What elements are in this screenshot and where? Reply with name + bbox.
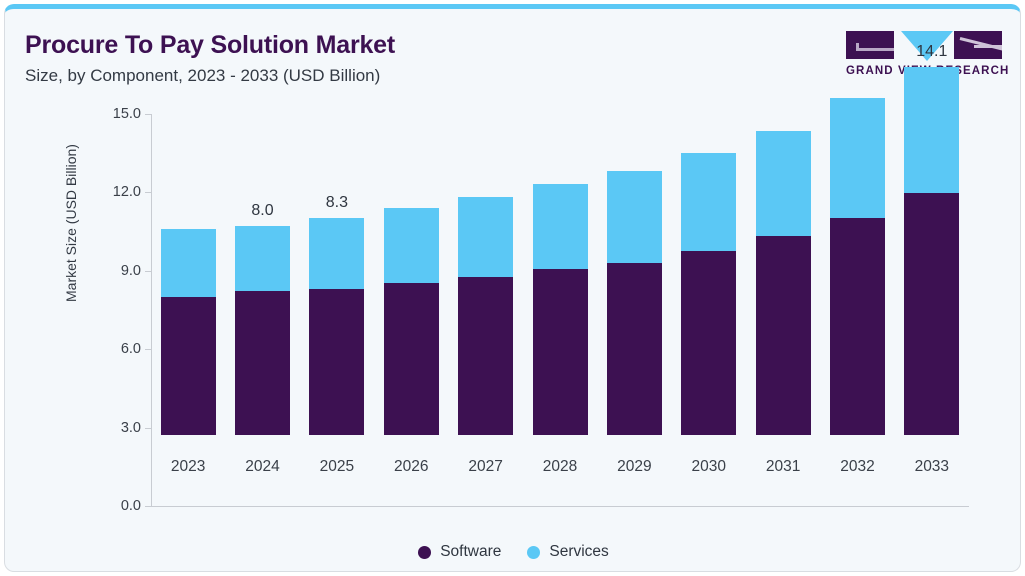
bar-segment-services[interactable] (235, 226, 290, 291)
bar-segment-services[interactable] (309, 218, 364, 289)
x-axis-tick-label: 2026 (394, 458, 428, 476)
x-axis-tick-label: 2023 (171, 458, 205, 476)
y-axis-tick-label: 3.0 (93, 420, 141, 436)
chart-card: Procure To Pay Solution Market Size, by … (4, 4, 1021, 572)
bar-segment-services[interactable] (830, 98, 885, 218)
y-axis-tick-label: 12.0 (93, 184, 141, 200)
bar-segment-software[interactable] (384, 283, 439, 435)
x-axis-tick: 2023 (161, 446, 216, 447)
bar-value-label: 8.3 (326, 194, 348, 212)
y-axis-tick-label: 9.0 (93, 263, 141, 279)
bar-segment-software[interactable] (681, 251, 736, 435)
legend-item-label: Software (440, 543, 501, 561)
bar-value-label: 14.1 (916, 43, 947, 61)
bar-group[interactable] (607, 171, 662, 435)
x-axis-tick: 2033 (904, 446, 959, 447)
x-axis-tick: 2028 (533, 446, 588, 447)
bar-segment-services[interactable] (607, 171, 662, 262)
bar-segment-software[interactable] (235, 291, 290, 435)
bar-segment-software[interactable] (756, 236, 811, 435)
x-axis-tick-label: 2028 (543, 458, 577, 476)
bar-value-label: 8.0 (251, 202, 273, 220)
legend-item[interactable]: Services (527, 543, 608, 561)
bar-group[interactable] (161, 229, 216, 435)
y-axis-tick-label: 15.0 (93, 106, 141, 122)
bar-segment-software[interactable] (533, 269, 588, 435)
x-axis-tick-label: 2032 (840, 458, 874, 476)
legend-item-label: Services (549, 543, 608, 561)
bar-segment-software[interactable] (830, 218, 885, 435)
bar-segment-services[interactable] (681, 153, 736, 251)
bar-group[interactable] (458, 197, 513, 435)
bar-segment-services[interactable] (458, 197, 513, 277)
x-axis-tick-label: 2029 (617, 458, 651, 476)
logo-g-bar (856, 48, 894, 51)
bar-segment-services[interactable] (533, 184, 588, 269)
bar-group[interactable] (756, 131, 811, 435)
x-axis-tick: 2032 (830, 446, 885, 447)
bar-segment-software[interactable] (607, 263, 662, 435)
bar-segment-services[interactable] (904, 67, 959, 194)
x-axis-tick: 2031 (756, 446, 811, 447)
bar-segment-software[interactable] (904, 193, 959, 435)
bar-segment-services[interactable] (161, 229, 216, 297)
bar-group[interactable] (384, 208, 439, 435)
bar-group[interactable]: 8.0 (235, 226, 290, 435)
y-axis-ticks: 0.03.06.09.012.015.0 (5, 97, 151, 572)
x-axis-tick: 2026 (384, 446, 439, 447)
x-axis-tick-label: 2030 (691, 458, 725, 476)
logo-g-mark-icon (846, 31, 894, 59)
x-axis-tick: 2025 (309, 446, 364, 447)
y-axis-tick-label: 6.0 (93, 341, 141, 357)
bar-group[interactable] (681, 153, 736, 435)
x-axis-tick-label: 2024 (245, 458, 279, 476)
bars-container: 20238.020248.320252026202720282029203020… (151, 107, 967, 506)
x-axis-tick-label: 2033 (915, 458, 949, 476)
x-axis-tick: 2030 (681, 446, 736, 447)
bar-segment-software[interactable] (458, 277, 513, 435)
bar-segment-software[interactable] (309, 289, 364, 435)
bar-segment-services[interactable] (384, 208, 439, 284)
logo-r-mark-icon (954, 31, 1002, 59)
page-title: Procure To Pay Solution Market (25, 31, 395, 60)
x-axis-tick-label: 2031 (766, 458, 800, 476)
bar-group[interactable] (830, 98, 885, 435)
logo-r-slash-2 (974, 45, 1002, 48)
bar-group[interactable]: 14.1 (904, 67, 959, 435)
chart-header: Procure To Pay Solution Market Size, by … (5, 9, 1020, 97)
legend-color-swatch-icon (527, 546, 540, 559)
bar-group[interactable]: 8.3 (309, 218, 364, 435)
page-subtitle: Size, by Component, 2023 - 2033 (USD Bil… (25, 66, 380, 86)
bar-group[interactable] (533, 184, 588, 435)
x-axis-tick: 2024 (235, 446, 290, 447)
x-axis-line (151, 506, 969, 507)
x-axis-tick-label: 2027 (468, 458, 502, 476)
chart-plot-area: Market Size (USD Billion) 0.03.06.09.012… (5, 97, 1021, 572)
x-axis-tick: 2027 (458, 446, 513, 447)
legend-item[interactable]: Software (418, 543, 501, 561)
chart-legend: SoftwareServices (5, 543, 1021, 561)
x-axis-tick: 2029 (607, 446, 662, 447)
bar-segment-services[interactable] (756, 131, 811, 237)
legend-color-swatch-icon (418, 546, 431, 559)
y-axis-tick-label: 0.0 (93, 498, 141, 514)
bar-segment-software[interactable] (161, 297, 216, 436)
x-axis-tick-label: 2025 (320, 458, 354, 476)
